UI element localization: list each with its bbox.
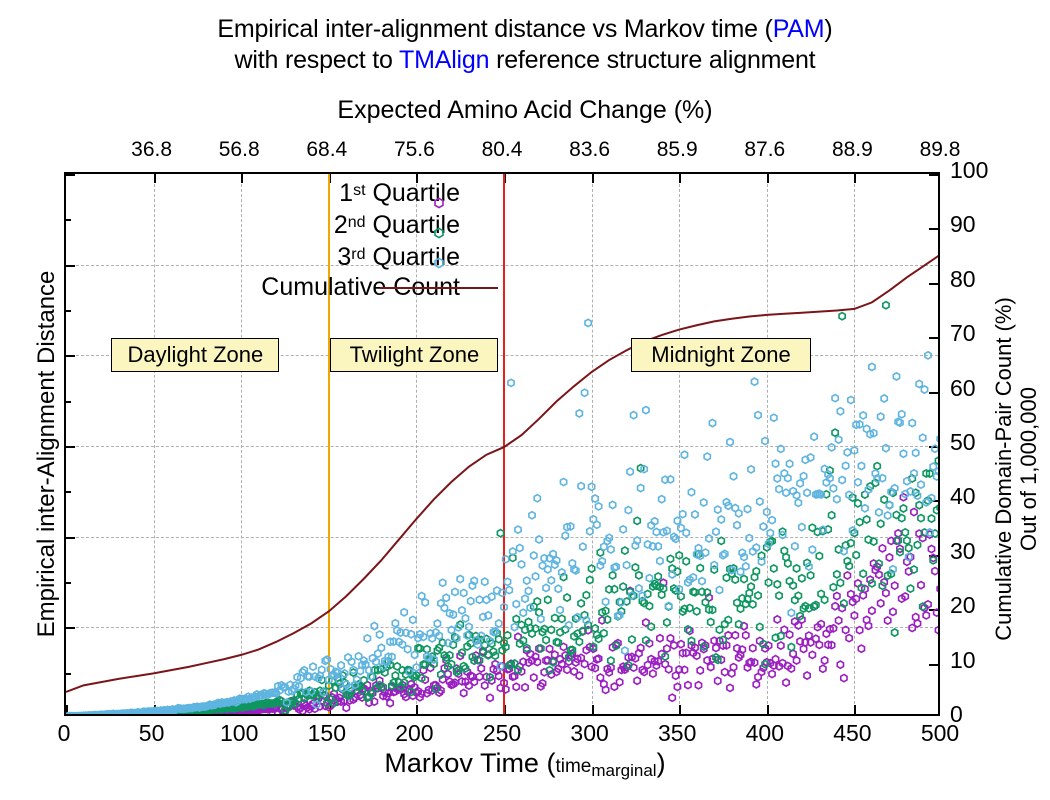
- data-point: [746, 535, 752, 542]
- data-point: [755, 592, 761, 599]
- data-point: [851, 447, 857, 454]
- data-point: [343, 704, 349, 711]
- data-point: [713, 528, 719, 535]
- data-point: [822, 657, 828, 664]
- data-point: [592, 495, 598, 502]
- data-point: [680, 511, 686, 518]
- legend-marker-glyph: [435, 258, 443, 267]
- data-point: [772, 460, 778, 467]
- data-point: [560, 478, 566, 485]
- data-point: [518, 561, 524, 568]
- data-point: [588, 565, 594, 572]
- data-point: [319, 666, 325, 673]
- data-point: [324, 656, 330, 663]
- data-point: [466, 623, 472, 630]
- data-point: [834, 496, 840, 503]
- data-point: [732, 632, 738, 639]
- data-point: [634, 517, 640, 524]
- legend-line-swatch: [380, 287, 498, 289]
- chart-title: Empirical inter-alignment distance vs Ma…: [0, 14, 1050, 76]
- chart-figure: Empirical inter-alignment distance vs Ma…: [0, 0, 1050, 800]
- top-axis-tick-label: 80.4: [442, 138, 562, 162]
- data-point: [667, 635, 673, 642]
- data-point: [522, 684, 528, 691]
- legend-marker-q1: [432, 196, 445, 209]
- data-point: [885, 617, 891, 624]
- data-point: [576, 638, 582, 645]
- data-point: [685, 682, 691, 689]
- data-point: [886, 554, 892, 561]
- data-point: [807, 572, 813, 579]
- data-point: [878, 520, 884, 527]
- data-point: [629, 636, 635, 643]
- data-point: [916, 380, 922, 387]
- series-3rd-quartile: [66, 319, 938, 714]
- data-point: [578, 483, 584, 490]
- data-point: [918, 515, 924, 522]
- data-point: [937, 435, 938, 442]
- legend-entry-q2: 2nd Quartile: [130, 208, 460, 240]
- data-point: [841, 674, 847, 681]
- data-point: [422, 599, 428, 606]
- data-point: [597, 674, 603, 681]
- data-point: [482, 682, 488, 689]
- data-point: [532, 573, 538, 580]
- data-point: [843, 462, 849, 469]
- data-point: [620, 526, 626, 533]
- data-point: [769, 670, 775, 677]
- data-point: [734, 522, 740, 529]
- data-point: [878, 600, 884, 607]
- data-point: [830, 485, 836, 492]
- data-point: [392, 672, 398, 679]
- top-axis-tick-label: 88.9: [792, 138, 912, 162]
- data-point: [830, 584, 836, 591]
- data-point: [900, 505, 906, 512]
- data-point: [448, 626, 454, 633]
- title-tmalign-highlight: TMAlign: [399, 46, 489, 74]
- data-point: [515, 526, 521, 533]
- data-point: [902, 529, 908, 536]
- data-point: [638, 484, 644, 491]
- data-point: [804, 489, 810, 496]
- title-line1-pre: Empirical inter-alignment distance vs Ma…: [217, 15, 772, 43]
- data-point: [545, 566, 551, 573]
- data-point: [920, 434, 926, 441]
- data-point: [788, 643, 794, 650]
- data-point: [683, 558, 689, 565]
- data-point: [836, 617, 842, 624]
- data-point: [562, 532, 568, 539]
- data-point: [387, 699, 393, 706]
- data-point: [909, 419, 915, 426]
- data-point: [904, 537, 910, 544]
- data-point: [667, 555, 673, 562]
- data-point: [837, 408, 843, 415]
- data-point: [762, 437, 768, 444]
- data-point: [906, 544, 912, 551]
- data-point: [858, 645, 864, 652]
- data-point: [543, 584, 549, 591]
- data-point: [857, 627, 863, 634]
- data-point: [783, 679, 789, 686]
- data-point: [718, 537, 724, 544]
- data-point: [669, 694, 675, 701]
- x-axis-tick-label: 450: [792, 720, 912, 747]
- data-point: [501, 604, 507, 611]
- data-point: [688, 489, 694, 496]
- data-point: [843, 626, 849, 633]
- data-point: [732, 576, 738, 583]
- data-point: [881, 395, 887, 402]
- data-point: [727, 438, 733, 445]
- top-axis-tick-label: 36.8: [92, 138, 212, 162]
- data-point: [624, 562, 630, 569]
- data-point: [634, 677, 640, 684]
- data-point: [657, 557, 663, 564]
- data-point: [727, 684, 733, 691]
- top-axis-tick-label: 85.9: [617, 138, 737, 162]
- x-axis-tick-label: 50: [92, 720, 212, 747]
- data-point: [722, 550, 728, 557]
- data-point: [536, 536, 542, 543]
- data-point: [576, 410, 582, 417]
- data-point: [860, 570, 866, 577]
- data-point: [899, 411, 905, 418]
- data-point: [646, 603, 652, 610]
- zone-label-midnight: Midnight Zone: [631, 338, 811, 372]
- data-point: [937, 585, 938, 592]
- data-point: [743, 563, 749, 570]
- data-point: [834, 571, 840, 578]
- data-point: [757, 498, 763, 505]
- title-line2-pre: with respect to: [235, 46, 399, 74]
- data-point: [883, 589, 889, 596]
- data-point: [529, 512, 535, 519]
- data-point: [750, 645, 756, 652]
- data-point: [874, 463, 880, 470]
- data-point: [878, 413, 884, 420]
- data-point: [504, 578, 510, 585]
- data-point: [844, 449, 850, 456]
- data-point: [688, 637, 694, 644]
- top-axis-tick-label: 89.8: [880, 138, 1000, 162]
- data-point: [820, 665, 826, 672]
- data-point: [855, 500, 861, 507]
- data-point: [928, 515, 934, 522]
- data-point: [864, 516, 870, 523]
- data-point: [899, 515, 905, 522]
- data-point: [769, 517, 775, 524]
- data-point: [772, 656, 778, 663]
- data-point: [774, 616, 780, 623]
- data-point: [876, 509, 882, 516]
- data-point: [883, 445, 889, 452]
- data-point: [846, 635, 852, 642]
- data-point: [785, 560, 791, 567]
- data-point: [534, 495, 540, 502]
- data-point: [581, 389, 587, 396]
- data-point: [797, 480, 803, 487]
- data-point: [632, 564, 638, 571]
- data-point: [617, 679, 623, 686]
- data-point: [468, 598, 474, 605]
- data-point: [836, 436, 842, 443]
- data-point: [650, 670, 656, 677]
- data-point: [588, 483, 594, 490]
- data-point: [457, 575, 463, 582]
- legend-marker-q3: [432, 256, 445, 269]
- data-point: [585, 319, 591, 326]
- data-point: [816, 552, 822, 559]
- data-point: [583, 592, 589, 599]
- data-point: [666, 666, 672, 673]
- data-point: [664, 619, 670, 626]
- data-point: [702, 549, 708, 556]
- data-point: [890, 608, 896, 615]
- data-point: [715, 677, 721, 684]
- data-point: [508, 379, 514, 386]
- data-point: [923, 612, 929, 619]
- data-point: [853, 552, 859, 559]
- data-point: [559, 615, 565, 622]
- data-point: [445, 670, 451, 677]
- data-point: [506, 587, 512, 594]
- data-point: [424, 646, 430, 653]
- data-point: [627, 468, 633, 475]
- data-point: [844, 572, 850, 579]
- data-point: [788, 609, 794, 616]
- data-point: [755, 412, 761, 419]
- data-point: [881, 496, 887, 503]
- data-point: [765, 579, 771, 586]
- data-point: [625, 507, 631, 514]
- data-point: [716, 586, 722, 593]
- data-point: [694, 608, 700, 615]
- data-point: [659, 496, 665, 503]
- data-point: [764, 508, 770, 515]
- data-point: [932, 568, 938, 575]
- x-axis-tick-label: 0: [4, 720, 124, 747]
- y2-axis-tick-label: 100: [950, 157, 1050, 184]
- data-point: [622, 547, 628, 554]
- x-axis-tick-label: 350: [617, 720, 737, 747]
- data-point: [697, 667, 703, 674]
- data-point: [829, 512, 835, 519]
- data-point: [548, 577, 554, 584]
- data-point: [816, 641, 822, 648]
- data-point: [892, 629, 898, 636]
- data-point: [900, 450, 906, 457]
- data-point: [778, 642, 784, 649]
- data-point: [937, 504, 938, 511]
- data-point: [730, 473, 736, 480]
- data-point: [708, 619, 714, 626]
- y2-axis-label: Cumulative Domain-Pair Count (%) Out of …: [991, 189, 1041, 749]
- data-point: [538, 615, 544, 622]
- x-axis-tick-label: 150: [267, 720, 387, 747]
- cumulative-count-line: [66, 253, 938, 691]
- data-point: [636, 572, 642, 579]
- data-point: [811, 433, 817, 440]
- data-point: [771, 414, 777, 421]
- data-point: [504, 632, 510, 639]
- data-point: [564, 666, 570, 673]
- x-axis-tick-label: 300: [530, 720, 650, 747]
- data-point: [581, 660, 587, 667]
- data-point: [918, 481, 924, 488]
- data-point: [681, 451, 687, 458]
- data-point: [476, 596, 482, 603]
- data-point: [683, 529, 689, 536]
- data-point: [655, 573, 661, 580]
- data-point: [809, 546, 815, 553]
- data-point: [692, 511, 698, 518]
- data-point: [774, 581, 780, 588]
- data-point: [610, 501, 616, 508]
- data-point: [378, 644, 384, 651]
- title-pam-highlight: PAM: [773, 15, 825, 43]
- data-point: [916, 502, 922, 509]
- data-point: [657, 635, 663, 642]
- data-point: [674, 683, 680, 690]
- data-point: [935, 457, 938, 464]
- data-point: [685, 626, 691, 633]
- data-point: [653, 528, 659, 535]
- series-cumulative-count: [66, 253, 938, 691]
- top-axis-tick-label: 75.6: [354, 138, 474, 162]
- data-point: [513, 600, 519, 607]
- data-point: [376, 631, 382, 638]
- data-point: [543, 636, 549, 643]
- data-point: [524, 577, 530, 584]
- data-point: [412, 651, 418, 658]
- data-point: [809, 651, 815, 658]
- data-point: [487, 694, 493, 701]
- data-point: [489, 593, 495, 600]
- data-point: [860, 412, 866, 419]
- data-point: [757, 623, 763, 630]
- data-point: [704, 453, 710, 460]
- data-point: [531, 674, 537, 681]
- data-point: [837, 579, 843, 586]
- data-point: [548, 626, 554, 633]
- data-point: [832, 603, 838, 610]
- data-point: [595, 503, 601, 510]
- data-point: [715, 506, 721, 513]
- x-axis-tick-label: 250: [442, 720, 562, 747]
- data-point: [520, 609, 526, 616]
- data-point: [603, 598, 609, 605]
- data-point: [743, 632, 749, 639]
- data-point: [497, 530, 503, 537]
- data-point: [776, 592, 782, 599]
- data-point: [546, 645, 552, 652]
- data-point: [706, 535, 712, 542]
- data-point: [594, 521, 600, 528]
- data-point: [371, 622, 377, 629]
- data-point: [513, 683, 519, 690]
- data-point: [631, 412, 637, 419]
- data-point: [678, 593, 684, 600]
- top-axis-tick-label: 68.4: [267, 138, 387, 162]
- data-point: [708, 663, 714, 670]
- x-axis-tick-label: 100: [179, 720, 299, 747]
- data-point: [454, 635, 460, 642]
- data-point: [748, 466, 754, 473]
- data-point: [392, 620, 398, 627]
- data-point: [862, 505, 868, 512]
- data-point: [310, 663, 316, 670]
- data-point: [587, 528, 593, 535]
- data-point: [786, 631, 792, 638]
- data-point: [622, 647, 628, 654]
- title-line2-post: reference structure alignment: [489, 46, 815, 74]
- data-point: [832, 429, 838, 436]
- data-point: [462, 615, 468, 622]
- data-point: [697, 564, 703, 571]
- data-point: [744, 505, 750, 512]
- data-point: [580, 543, 586, 550]
- data-point: [839, 313, 845, 320]
- data-point: [578, 600, 584, 607]
- data-point: [459, 607, 465, 614]
- data-point: [701, 499, 707, 506]
- chart-title-line2: with respect to TMAlign reference struct…: [0, 45, 1050, 76]
- data-point: [678, 641, 684, 648]
- data-point: [643, 407, 649, 414]
- data-point: [555, 585, 561, 592]
- data-point: [748, 583, 754, 590]
- data-point: [771, 565, 777, 572]
- y2-axis-label-line2: Out of 1,000,000: [1016, 189, 1041, 749]
- data-point: [893, 373, 899, 380]
- data-point: [806, 632, 812, 639]
- data-point: [895, 530, 901, 537]
- data-point: [461, 689, 467, 696]
- chart-title-line1: Empirical inter-alignment distance vs Ma…: [0, 14, 1050, 45]
- data-point: [522, 595, 528, 602]
- data-point: [338, 662, 344, 669]
- data-point: [914, 620, 920, 627]
- data-point: [676, 552, 682, 559]
- data-point: [410, 616, 416, 623]
- data-point: [452, 588, 458, 595]
- data-point: [552, 614, 558, 621]
- data-point: [834, 592, 840, 599]
- data-point: [767, 529, 773, 536]
- data-point: [699, 578, 705, 585]
- data-point: [907, 585, 913, 592]
- data-point: [434, 620, 440, 627]
- data-point: [620, 583, 626, 590]
- data-point: [879, 545, 885, 552]
- data-point: [718, 516, 724, 523]
- data-point: [911, 508, 917, 515]
- legend-marker-glyph: [435, 228, 443, 237]
- data-point: [722, 669, 728, 676]
- data-point: [564, 594, 570, 601]
- data-point: [496, 620, 502, 627]
- data-point: [503, 556, 509, 563]
- data-point: [869, 363, 875, 370]
- legend-entry-q1: 1st Quartile: [130, 176, 460, 208]
- data-point: [932, 445, 938, 452]
- data-point: [913, 449, 919, 456]
- data-point: [839, 476, 845, 483]
- data-point: [848, 396, 854, 403]
- data-point: [587, 576, 593, 583]
